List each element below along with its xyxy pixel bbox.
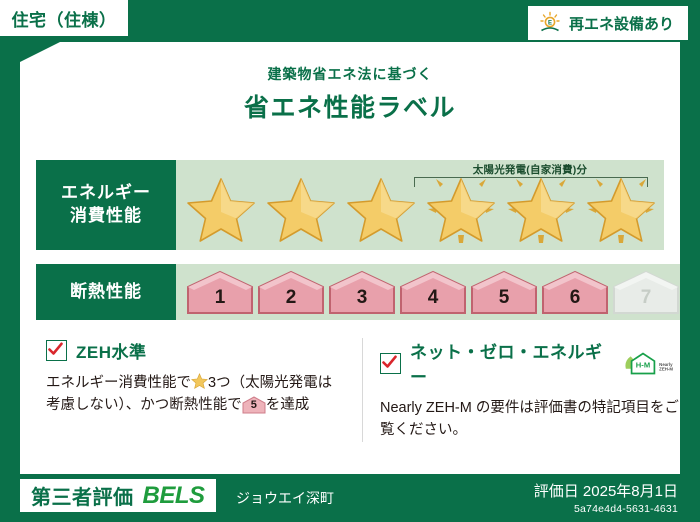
energy-performance-body: 太陽光発電(自家消費)分 [176,160,664,250]
star-2 [262,165,340,245]
inline-badge-value: 5 [242,397,266,414]
nearly-zeh-m-logo: H-M Nearly ZEH-M [623,349,682,377]
svg-text:ZEH-M: ZEH-M [659,367,673,372]
insulation-badge-1: 1 [186,270,254,314]
inline-star-icon [191,373,208,390]
evaluation-id: 5a74e4d4-5631-4631 [534,503,678,515]
net-zero-energy-text: Nearly ZEH-M の要件は評価書の特記項目をご覧ください。 [380,397,682,442]
building-name: ジョウエイ深町 [236,488,334,508]
insulation-badge-2: 2 [257,270,325,314]
renewable-equipment-tag: E 再エネ設備あり [528,6,688,40]
zeh-standard-text: エネルギー消費性能で3つ（太陽光発電は考慮しない）、かつ断熱性能で5を達成 [46,372,346,417]
net-zero-energy-section: ネット・ゼロ・エネルギー H-M Nearly ZEH-M Nearly ZEH… [380,338,682,442]
zeh-standard-section: ZEH水準 エネルギー消費性能で3つ（太陽光発電は考慮しない）、かつ断熱性能で5… [46,338,346,417]
insulation-badge-value: 7 [612,287,680,309]
insulation-badge-5: 5 [470,270,538,314]
red-check-icon [46,340,67,361]
insulation-badge-value: 3 [328,287,396,309]
net-zero-energy-heading: ネット・ゼロ・エネルギー H-M Nearly ZEH-M [380,338,682,388]
zeh-text-part3: を達成 [266,397,310,413]
insulation-badge-value: 6 [541,287,609,309]
star-6 [582,165,660,245]
insulation-performance-label: 断熱性能 [36,264,176,320]
star-5 [502,165,580,245]
red-check-icon [380,353,401,374]
page-title: 省エネ性能ラベル [20,88,680,124]
star-4 [422,165,500,245]
net-zero-energy-title: ネット・ゼロ・エネルギー [410,338,610,388]
energy-performance-row: エネルギー 消費性能 太陽光発電(自家消費)分 [36,160,664,250]
evaluation-meta: 評価日 2025年8月1日 5a74e4d4-5631-4631 [534,480,678,515]
insulation-badge-6: 6 [541,270,609,314]
solar-sun-icon: E [538,11,562,35]
insulation-performance-body: 1234567 [176,264,680,320]
zeh-text-part1: エネルギー消費性能で [46,375,191,391]
title-block: 建築物省エネ法に基づく 省エネ性能ラベル [20,64,680,124]
insulation-badge-3: 3 [328,270,396,314]
house-type-tag: 住宅（住棟） [0,0,128,36]
house-type-label: 住宅（住棟） [12,6,117,31]
insulation-badge-value: 1 [186,287,254,309]
zeh-standard-title: ZEH水準 [76,338,147,363]
title-subtitle: 建築物省エネ法に基づく [20,64,680,84]
energy-performance-label: エネルギー 消費性能 [36,160,176,250]
star-1 [182,165,260,245]
evaluation-date: 評価日 2025年8月1日 [534,480,678,501]
insulation-grade-badges: 1234567 [186,270,680,314]
svg-text:H-M: H-M [636,361,650,370]
insulation-badge-4: 4 [399,270,467,314]
bels-certification-badge: 第三者評価 BELS [20,479,216,512]
star-3 [342,165,420,245]
insulation-badge-value: 4 [399,287,467,309]
label-body: 建築物省エネ法に基づく 省エネ性能ラベル エネルギー 消費性能 太陽光発電(自家… [20,42,680,474]
label-frame: 住宅（住棟） E 再エネ設備あり 建築物省エネ法に基づく 省エネ性能ラベル エネ… [0,0,700,522]
zeh-standard-heading: ZEH水準 [46,338,346,363]
inline-insulation-badge: 5 [242,396,266,414]
third-party-eval-label: 第三者評価 [31,481,134,510]
insulation-performance-row: 断熱性能 1234567 [36,264,664,320]
insulation-badge-value: 2 [257,287,325,309]
column-divider [362,338,363,442]
bels-label: BELS [143,482,205,510]
insulation-badge-7: 7 [612,270,680,314]
footer: 第三者評価 BELS ジョウエイ深町 評価日 2025年8月1日 5a74e4d… [0,474,700,522]
insulation-badge-value: 5 [470,287,538,309]
renewable-equipment-label: 再エネ設備あり [569,13,674,34]
svg-text:E: E [548,21,552,27]
